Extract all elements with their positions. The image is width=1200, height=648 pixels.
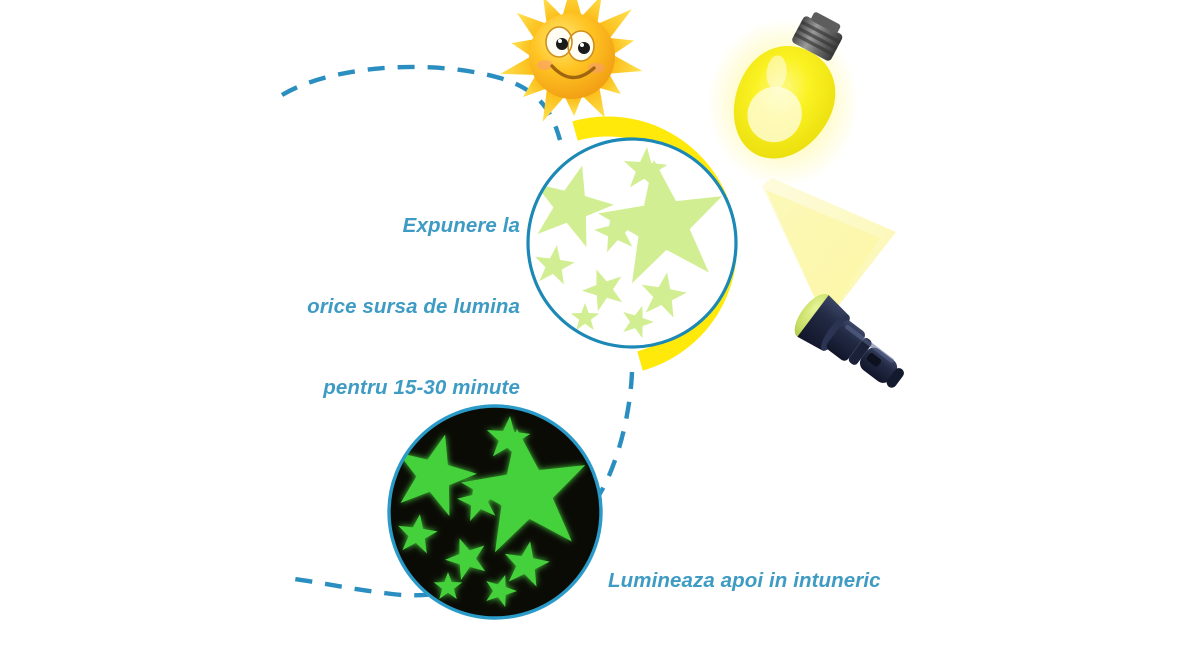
caption-exposure-line3: pentru 15-30 minute xyxy=(255,374,520,401)
stars-in-daylight xyxy=(523,126,736,361)
infographic-canvas: Expunere la orice sursa de lumina pentru… xyxy=(0,0,1200,630)
light-bulb-illustration xyxy=(707,0,870,187)
sun-illustration xyxy=(498,0,644,125)
illustration-layer xyxy=(0,0,1200,630)
caption-exposure-line1: Expunere la xyxy=(255,212,520,239)
caption-exposure: Expunere la orice sursa de lumina pentru… xyxy=(255,158,520,456)
flashlight-illustration xyxy=(762,178,915,402)
caption-glow-line1: Lumineaza apoi in intuneric xyxy=(608,567,881,594)
caption-exposure-line2: orice sursa de lumina xyxy=(255,293,520,320)
caption-glow: Lumineaza apoi in intuneric xyxy=(608,513,881,648)
exposure-arc xyxy=(282,67,560,140)
